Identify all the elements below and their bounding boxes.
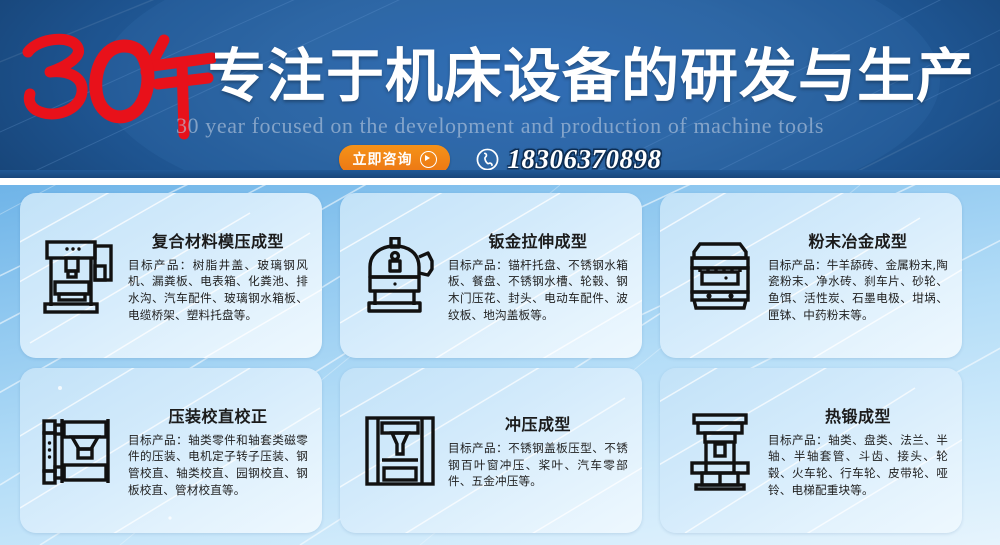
hero-headline: 专注于机床设备的研发与生产 bbox=[208, 45, 975, 107]
molding-press-icon bbox=[38, 234, 122, 318]
card-title: 复合材料模压成型 bbox=[128, 228, 308, 252]
card-text: 冲压成型 目标产品：不锈钢盖板压型、不锈钢百叶窗冲压、桨叶、汽车零部件、五金冲压… bbox=[448, 411, 632, 490]
arrow-right-icon bbox=[420, 151, 437, 168]
card-text: 压装校直校正 目标产品：轴类零件和轴套类磁零件的压装、电机定子转子压装、钢管校直… bbox=[128, 403, 312, 498]
hero-section: 专注于机床设备的研发与生产 30 year focused on the dev… bbox=[0, 0, 1000, 178]
card-title: 粉末冶金成型 bbox=[768, 228, 948, 252]
card-description: 目标产品：树脂井盖、玻璃钢风机、漏粪板、电表箱、化粪池、排水沟、汽车配件、玻璃钢… bbox=[128, 257, 308, 323]
service-card[interactable]: 粉末冶金成型 目标产品：牛羊舔砖、金属粉末,陶瓷粉末、净水砖、刹车片、砂轮、鱼饵… bbox=[660, 193, 962, 358]
card-description: 目标产品：牛羊舔砖、金属粉末,陶瓷粉末、净水砖、刹车片、砂轮、鱼饵、活性炭、石墨… bbox=[768, 257, 948, 323]
powder-metallurgy-press-icon bbox=[678, 234, 762, 318]
hot-forging-press-icon bbox=[678, 409, 762, 493]
service-card[interactable]: 热锻成型 目标产品：轴类、盘类、法兰、半轴、半轴套管、斗齿、接头、轮毂、火车轮、… bbox=[660, 368, 962, 533]
services-section: 复合材料模压成型 目标产品：树脂井盖、玻璃钢风机、漏粪板、电表箱、化粪池、排水沟… bbox=[0, 185, 1000, 545]
hero-subheadline-english: 30 year focused on the development and p… bbox=[0, 113, 1000, 139]
card-title: 冲压成型 bbox=[448, 411, 628, 435]
consult-now-label: 立即咨询 bbox=[353, 149, 413, 169]
hero-bottom-divider bbox=[0, 170, 1000, 178]
card-text: 钣金拉伸成型 目标产品：锚杆托盘、不锈钢水箱板、餐盘、不锈钢水槽、轮毂、钢木门压… bbox=[448, 228, 632, 323]
service-card[interactable]: 冲压成型 目标产品：不锈钢盖板压型、不锈钢百叶窗冲压、桨叶、汽车零部件、五金冲压… bbox=[340, 368, 642, 533]
card-description: 目标产品：轴类零件和轴套类磁零件的压装、电机定子转子压装、钢管校直、轴类校直、园… bbox=[128, 432, 308, 498]
card-description: 目标产品：锚杆托盘、不锈钢水箱板、餐盘、不锈钢水槽、轮毂、钢木门压花、封头、电动… bbox=[448, 257, 628, 323]
sheet-metal-press-icon bbox=[358, 234, 442, 318]
service-card[interactable]: 复合材料模压成型 目标产品：树脂井盖、玻璃钢风机、漏粪板、电表箱、化粪池、排水沟… bbox=[20, 193, 322, 358]
stamping-press-icon bbox=[358, 409, 442, 493]
promo-banner: 专注于机床设备的研发与生产 30 year focused on the dev… bbox=[0, 0, 1000, 545]
card-text: 热锻成型 目标产品：轴类、盘类、法兰、半轴、半轴套管、斗齿、接头、轮毂、火车轮、… bbox=[768, 403, 952, 498]
service-cards-grid: 复合材料模压成型 目标产品：树脂井盖、玻璃钢风机、漏粪板、电表箱、化粪池、排水沟… bbox=[0, 185, 1000, 545]
card-description: 目标产品：轴类、盘类、法兰、半轴、半轴套管、斗齿、接头、轮毂、火车轮、行车轮、皮… bbox=[768, 432, 948, 498]
service-card[interactable]: 钣金拉伸成型 目标产品：锚杆托盘、不锈钢水箱板、餐盘、不锈钢水槽、轮毂、钢木门压… bbox=[340, 193, 642, 358]
section-gap bbox=[0, 178, 1000, 185]
card-description: 目标产品：不锈钢盖板压型、不锈钢百叶窗冲压、桨叶、汽车零部件、五金冲压等。 bbox=[448, 440, 628, 490]
card-text: 粉末冶金成型 目标产品：牛羊舔砖、金属粉末,陶瓷粉末、净水砖、刹车片、砂轮、鱼饵… bbox=[768, 228, 952, 323]
card-text: 复合材料模压成型 目标产品：树脂井盖、玻璃钢风机、漏粪板、电表箱、化粪池、排水沟… bbox=[128, 228, 312, 323]
card-title: 压装校直校正 bbox=[128, 403, 308, 427]
card-title: 热锻成型 bbox=[768, 403, 948, 427]
card-title: 钣金拉伸成型 bbox=[448, 228, 628, 252]
straightening-press-icon bbox=[38, 409, 122, 493]
service-card[interactable]: 压装校直校正 目标产品：轴类零件和轴套类磁零件的压装、电机定子转子压装、钢管校直… bbox=[20, 368, 322, 533]
phone-icon bbox=[476, 148, 499, 171]
